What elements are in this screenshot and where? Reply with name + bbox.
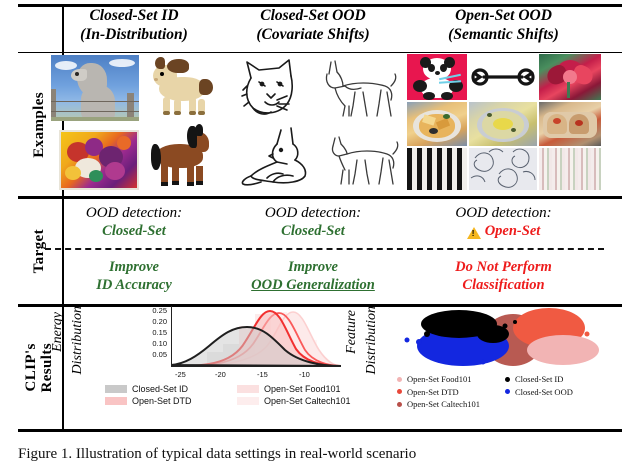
column-header-closed-set-id-line2: (In-Distribution) <box>80 26 188 45</box>
feature-legend-label-closed-set-id: Closed-Set ID <box>515 374 563 384</box>
texture-pinstripe-image <box>539 148 601 190</box>
wrench-image <box>469 54 537 100</box>
energy-legend-closed-set-id: Closed-Set ID <box>105 384 237 394</box>
energy-curves <box>171 306 341 368</box>
energy-distribution-label2: Distribution <box>71 306 85 418</box>
energy-chart-legend: Closed-Set ID Open-Set Food101 Open-Set … <box>105 384 355 408</box>
column-header-open-set-ood-line2: (Semantic Shifts) <box>448 26 559 45</box>
x-tick--20: -20 <box>215 370 226 379</box>
feature-legend-dot-closed-set-ood <box>505 389 510 394</box>
target-col1-goal-line2: ID Accuracy <box>96 276 172 294</box>
feature-legend-dot-open-set-food101 <box>397 377 402 382</box>
energy-legend-swatch-closed-set-id <box>105 385 127 393</box>
target-col3-label: OOD detection: <box>455 204 551 223</box>
feature-legend-dot-closed-set-id <box>505 377 510 382</box>
target-col1-value: Closed-Set <box>102 222 166 240</box>
target-col2-value: Closed-Set <box>281 222 345 240</box>
feature-legend-open-set-caltech101: Open-Set Caltech101 <box>397 399 505 409</box>
feature-distribution-label2: Distribution <box>365 306 379 418</box>
target-col2-label: OOD detection: <box>265 204 361 223</box>
feature-legend-dot-open-set-dtd <box>397 389 402 394</box>
feature-legend-label-open-set-food101: Open-Set Food101 <box>407 374 471 384</box>
energy-chart-plot-area <box>171 306 341 368</box>
target-col3-value-row: Open-Set <box>467 222 541 240</box>
feature-legend-open-set-food101: Open-Set Food101 <box>397 374 505 384</box>
energy-legend-row-1: Closed-Set ID Open-Set Food101 <box>105 384 355 394</box>
texture-paisley-image <box>469 148 537 190</box>
food-tacos-image <box>539 102 601 146</box>
sketch-horse-outline-image <box>325 128 401 188</box>
energy-legend-open-set-food101: Open-Set Food101 <box>237 384 341 394</box>
target-closed-set-id-goal: Improve ID Accuracy <box>45 250 223 302</box>
energy-chart-y-axis-line <box>171 306 172 367</box>
sketch-dog-head-image <box>231 56 311 120</box>
sketch-horse-standing-image <box>315 56 399 120</box>
feature-chart-legend: Open-Set Food101 Closed-Set ID Open-Set … <box>397 374 604 412</box>
target-row-top: OOD detection: Closed-Set OOD detection:… <box>45 196 604 248</box>
column-header-closed-set-id-line1: Closed-Set ID <box>89 7 178 26</box>
x-tick--10: -10 <box>299 370 310 379</box>
panda-image <box>407 54 467 100</box>
column-header-closed-set-ood-line1: Closed-Set OOD <box>260 7 365 26</box>
cartoon-horse-image <box>143 53 221 121</box>
energy-legend-swatch-open-set-dtd <box>105 397 127 405</box>
figure-caption: Figure 1. Illustration of typical data s… <box>18 446 622 463</box>
food-nachos-image <box>407 102 467 146</box>
feature-distribution-label-line2: Distribution <box>365 306 379 374</box>
photo-horse-image <box>51 55 139 121</box>
y-tick-025: 0.25 <box>152 306 167 315</box>
feature-legend-closed-set-id: Closed-Set ID <box>505 374 563 384</box>
target-closed-set-ood-detection: OOD detection: Closed-Set <box>223 196 403 248</box>
energy-distribution-label: Energy <box>51 312 65 416</box>
energy-chart-x-axis <box>171 366 341 367</box>
examples-row <box>45 52 604 192</box>
energy-legend-swatch-open-set-caltech101 <box>237 397 259 405</box>
art-painting-horse-image <box>59 130 139 190</box>
sketch-dog-lying-image <box>237 124 321 188</box>
clip-results-row: Energy Distribution 0.25 0.20 0.15 0.10 … <box>45 304 604 428</box>
target-open-set-ood-detection: OOD detection: Open-Set <box>403 196 604 248</box>
column-header-open-set-ood: Open-Set OOD (Semantic Shifts) <box>403 2 604 50</box>
feature-scatter-points <box>397 304 604 374</box>
energy-legend-swatch-open-set-food101 <box>237 385 259 393</box>
feature-legend-label-open-set-caltech101: Open-Set Caltech101 <box>407 399 480 409</box>
table-border-bottom <box>18 429 622 432</box>
feature-legend-row-2: Open-Set DTD Closed-Set OOD <box>397 387 604 397</box>
warning-icon <box>467 227 481 239</box>
table-header-row: Closed-Set ID (In-Distribution) Closed-S… <box>45 2 604 50</box>
energy-distribution-label-line1: Energy <box>51 312 65 352</box>
y-tick-020: 0.20 <box>152 317 167 326</box>
food-hummus-image <box>469 102 537 146</box>
figure-page: Examples Target CLIP's Results Closed-Se… <box>0 0 640 463</box>
x-tick--25: -25 <box>175 370 186 379</box>
energy-legend-open-set-caltech101: Open-Set Caltech101 <box>237 396 351 406</box>
y-tick-010: 0.10 <box>152 339 167 348</box>
y-tick-015: 0.15 <box>152 328 167 337</box>
feature-distribution-label-line1: Feature <box>345 310 359 354</box>
examples-closed-set-id <box>45 52 223 192</box>
target-open-set-ood-goal: Do Not Perform Classification <box>403 250 604 302</box>
energy-chart-y-axis: 0.25 0.20 0.15 0.10 0.05 <box>133 306 169 368</box>
target-col1-goal-line1: Improve <box>109 258 159 276</box>
target-row-bottom: Improve ID Accuracy Improve OOD Generali… <box>45 250 604 302</box>
feature-legend-label-open-set-dtd: Open-Set DTD <box>407 387 459 397</box>
feature-legend-row-3: Open-Set Caltech101 <box>397 399 604 409</box>
y-tick-005: 0.05 <box>152 350 167 359</box>
column-header-closed-set-id: Closed-Set ID (In-Distribution) <box>45 2 223 50</box>
column-header-closed-set-ood-line2: (Covariate Shifts) <box>256 26 369 45</box>
target-closed-set-ood-goal: Improve OOD Generalization <box>223 250 403 302</box>
column-header-closed-set-ood: Closed-Set OOD (Covariate Shifts) <box>223 2 403 50</box>
lotus-image <box>539 54 601 100</box>
feature-legend-dot-open-set-caltech101 <box>397 402 402 407</box>
target-col1-label: OOD detection: <box>86 204 182 223</box>
brown-horse-illustration-image <box>141 124 221 190</box>
examples-open-set-ood <box>403 52 604 192</box>
texture-stripes-image <box>407 148 467 190</box>
feature-legend-row-1: Open-Set Food101 Closed-Set ID <box>397 374 604 384</box>
target-col3-value: Open-Set <box>485 222 541 240</box>
feature-distribution-chart <box>397 304 604 374</box>
target-row: OOD detection: Closed-Set OOD detection:… <box>45 196 604 302</box>
feature-distribution-label: Feature <box>345 310 359 414</box>
feature-legend-closed-set-ood: Closed-Set OOD <box>505 387 573 397</box>
energy-legend-label-open-set-caltech101: Open-Set Caltech101 <box>264 396 351 406</box>
target-closed-set-id-detection: OOD detection: Closed-Set <box>45 196 223 248</box>
column-header-open-set-ood-line1: Open-Set OOD <box>455 7 552 26</box>
energy-legend-label-closed-set-id: Closed-Set ID <box>132 384 188 394</box>
energy-distribution-chart: 0.25 0.20 0.15 0.10 0.05 <box>133 306 343 384</box>
energy-legend-open-set-dtd: Open-Set DTD <box>105 396 237 406</box>
target-col2-goal-line1: Improve <box>288 258 338 276</box>
x-tick--15: -15 <box>257 370 268 379</box>
energy-distribution-label-line2: Distribution <box>71 306 85 374</box>
energy-legend-label-open-set-food101: Open-Set Food101 <box>264 384 341 394</box>
target-col3-goal-line2: Classification <box>462 276 544 294</box>
feature-legend-open-set-dtd: Open-Set DTD <box>397 387 505 397</box>
feature-legend-label-closed-set-ood: Closed-Set OOD <box>515 387 573 397</box>
energy-legend-row-2: Open-Set DTD Open-Set Caltech101 <box>105 396 355 406</box>
target-col3-goal-line1: Do Not Perform <box>455 258 552 276</box>
energy-legend-label-open-set-dtd: Open-Set DTD <box>132 396 192 406</box>
target-col2-goal-line2: OOD Generalization <box>251 276 375 294</box>
examples-closed-set-ood <box>223 52 403 192</box>
